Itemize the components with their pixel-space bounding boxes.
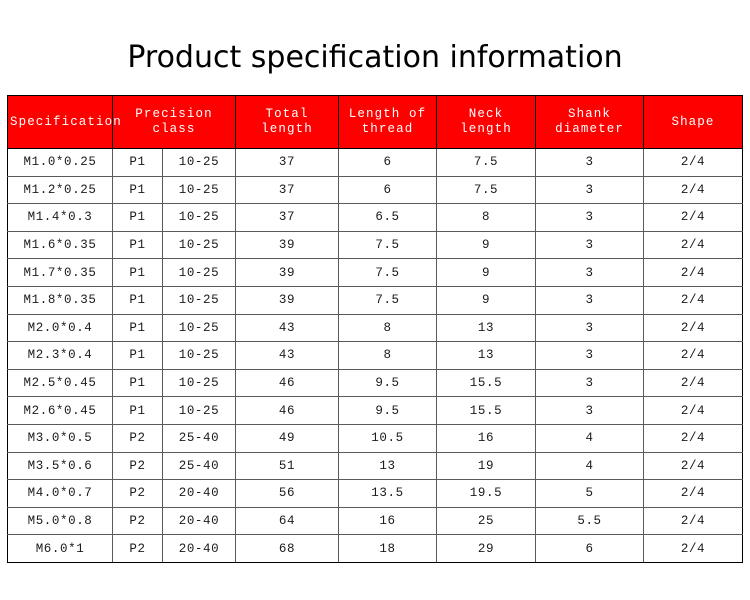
table-cell: 3 [536,342,644,370]
table-cell: 5.5 [536,507,644,535]
column-header: Shank diameter [536,96,644,149]
column-header: Length of thread [339,96,437,149]
table-cell: 19 [437,452,536,480]
column-header: Specification [8,96,113,149]
table-row: M5.0*0.8P220-406416255.52/4 [8,507,743,535]
table-cell: 10-25 [163,231,236,259]
table-cell: 37 [236,176,339,204]
table-cell: P2 [113,480,163,508]
table-body: M1.0*0.25P110-253767.532/4M1.2*0.25P110-… [8,149,743,563]
table-row: M4.0*0.7P220-405613.519.552/4 [8,480,743,508]
table-cell: 4 [536,452,644,480]
table-cell: 13.5 [339,480,437,508]
table-cell: 8 [339,342,437,370]
table-cell: 2/4 [644,369,743,397]
table-cell: M6.0*1 [8,535,113,563]
table-cell: M3.0*0.5 [8,424,113,452]
table-cell: P1 [113,342,163,370]
table-row: M2.0*0.4P110-254381332/4 [8,314,743,342]
table-cell: 6 [339,176,437,204]
table-cell: 39 [236,286,339,314]
column-header: Precision class [113,96,236,149]
table-row: M1.7*0.35P110-25397.5932/4 [8,259,743,287]
table-cell: 2/4 [644,397,743,425]
table-cell: 13 [339,452,437,480]
table-row: M1.2*0.25P110-253767.532/4 [8,176,743,204]
table-cell: M1.4*0.3 [8,204,113,232]
table-cell: 9 [437,231,536,259]
table-cell: 3 [536,286,644,314]
table-header: SpecificationPrecision classTotal length… [8,96,743,149]
table-cell: 7.5 [339,259,437,287]
table-cell: 39 [236,231,339,259]
table-cell: 37 [236,149,339,177]
table-cell: 6 [536,535,644,563]
table-cell: 10-25 [163,259,236,287]
specification-table: SpecificationPrecision classTotal length… [7,95,743,563]
table-cell: 39 [236,259,339,287]
table-cell: 2/4 [644,535,743,563]
table-cell: P2 [113,507,163,535]
table-cell: 10-25 [163,149,236,177]
column-header: Shape [644,96,743,149]
table-cell: 3 [536,369,644,397]
table-cell: 46 [236,369,339,397]
table-cell: 2/4 [644,507,743,535]
page-title: Product specification information [0,38,750,78]
table-cell: 18 [339,535,437,563]
table-cell: P1 [113,286,163,314]
table-cell: 2/4 [644,231,743,259]
table-cell: 3 [536,259,644,287]
table-row: M2.3*0.4P110-254381332/4 [8,342,743,370]
table-cell: 3 [536,176,644,204]
table-cell: 2/4 [644,314,743,342]
table-cell: 7.5 [339,286,437,314]
table-cell: 25-40 [163,424,236,452]
table-cell: M1.0*0.25 [8,149,113,177]
table-cell: 7.5 [339,231,437,259]
table-cell: M1.8*0.35 [8,286,113,314]
table-cell: M4.0*0.7 [8,480,113,508]
table-cell: 9.5 [339,369,437,397]
table-cell: M1.6*0.35 [8,231,113,259]
table-cell: M2.6*0.45 [8,397,113,425]
table-cell: 7.5 [437,176,536,204]
table-cell: M3.5*0.6 [8,452,113,480]
table-cell: 6.5 [339,204,437,232]
table-cell: 8 [339,314,437,342]
table-cell: P1 [113,176,163,204]
table-cell: 10-25 [163,397,236,425]
table-cell: 2/4 [644,176,743,204]
table-cell: 10-25 [163,176,236,204]
table-cell: M2.3*0.4 [8,342,113,370]
table-cell: M1.2*0.25 [8,176,113,204]
table-cell: 2/4 [644,424,743,452]
table-cell: 25-40 [163,452,236,480]
table-cell: 16 [437,424,536,452]
table-cell: 13 [437,314,536,342]
table-cell: 4 [536,424,644,452]
table-cell: M1.7*0.35 [8,259,113,287]
table-cell: 3 [536,231,644,259]
table-row: M6.0*1P220-4068182962/4 [8,535,743,563]
table-cell: 3 [536,314,644,342]
table-cell: 6 [339,149,437,177]
table-cell: 10-25 [163,342,236,370]
table-cell: 10-25 [163,369,236,397]
table-row: M3.0*0.5P225-404910.51642/4 [8,424,743,452]
table-row: M2.5*0.45P110-25469.515.532/4 [8,369,743,397]
table-cell: 2/4 [644,342,743,370]
table-row: M1.0*0.25P110-253767.532/4 [8,149,743,177]
table-cell: P1 [113,369,163,397]
table-cell: P2 [113,452,163,480]
table-cell: 7.5 [437,149,536,177]
table-cell: P1 [113,149,163,177]
table-cell: 15.5 [437,397,536,425]
table-header-row: SpecificationPrecision classTotal length… [8,96,743,149]
table-row: M1.8*0.35P110-25397.5932/4 [8,286,743,314]
table-cell: 9 [437,259,536,287]
table-cell: 43 [236,314,339,342]
table-cell: 51 [236,452,339,480]
table-cell: 20-40 [163,480,236,508]
table-cell: 8 [437,204,536,232]
table-cell: 2/4 [644,149,743,177]
table-cell: 3 [536,397,644,425]
table-cell: 3 [536,204,644,232]
table-cell: 49 [236,424,339,452]
table-cell: 43 [236,342,339,370]
table-cell: 9.5 [339,397,437,425]
table-cell: M2.0*0.4 [8,314,113,342]
table-cell: 5 [536,480,644,508]
table-cell: 25 [437,507,536,535]
table-cell: 13 [437,342,536,370]
column-header: Total length [236,96,339,149]
table-cell: 9 [437,286,536,314]
table-cell: 16 [339,507,437,535]
table-cell: 20-40 [163,507,236,535]
table-cell: 2/4 [644,204,743,232]
table-cell: 64 [236,507,339,535]
table-cell: P1 [113,397,163,425]
table-cell: 15.5 [437,369,536,397]
table-row: M1.6*0.35P110-25397.5932/4 [8,231,743,259]
table-cell: 10-25 [163,314,236,342]
specification-table-wrapper: SpecificationPrecision classTotal length… [7,95,742,563]
table-cell: 10-25 [163,204,236,232]
table-cell: P1 [113,259,163,287]
table-cell: 19.5 [437,480,536,508]
table-cell: 3 [536,149,644,177]
table-cell: 68 [236,535,339,563]
table-cell: 2/4 [644,452,743,480]
table-cell: 46 [236,397,339,425]
table-cell: 2/4 [644,480,743,508]
table-cell: 2/4 [644,286,743,314]
table-cell: P2 [113,535,163,563]
table-cell: 56 [236,480,339,508]
table-cell: M2.5*0.45 [8,369,113,397]
table-cell: M5.0*0.8 [8,507,113,535]
table-row: M1.4*0.3P110-25376.5832/4 [8,204,743,232]
table-cell: 10.5 [339,424,437,452]
table-cell: 2/4 [644,259,743,287]
table-row: M2.6*0.45P110-25469.515.532/4 [8,397,743,425]
table-cell: 29 [437,535,536,563]
table-cell: P1 [113,204,163,232]
table-cell: P1 [113,314,163,342]
table-cell: P2 [113,424,163,452]
table-cell: 37 [236,204,339,232]
table-cell: P1 [113,231,163,259]
product-specification-page: Product specification information Specif… [0,0,750,600]
table-row: M3.5*0.6P225-4051131942/4 [8,452,743,480]
table-cell: 10-25 [163,286,236,314]
table-cell: 20-40 [163,535,236,563]
column-header: Neck length [437,96,536,149]
